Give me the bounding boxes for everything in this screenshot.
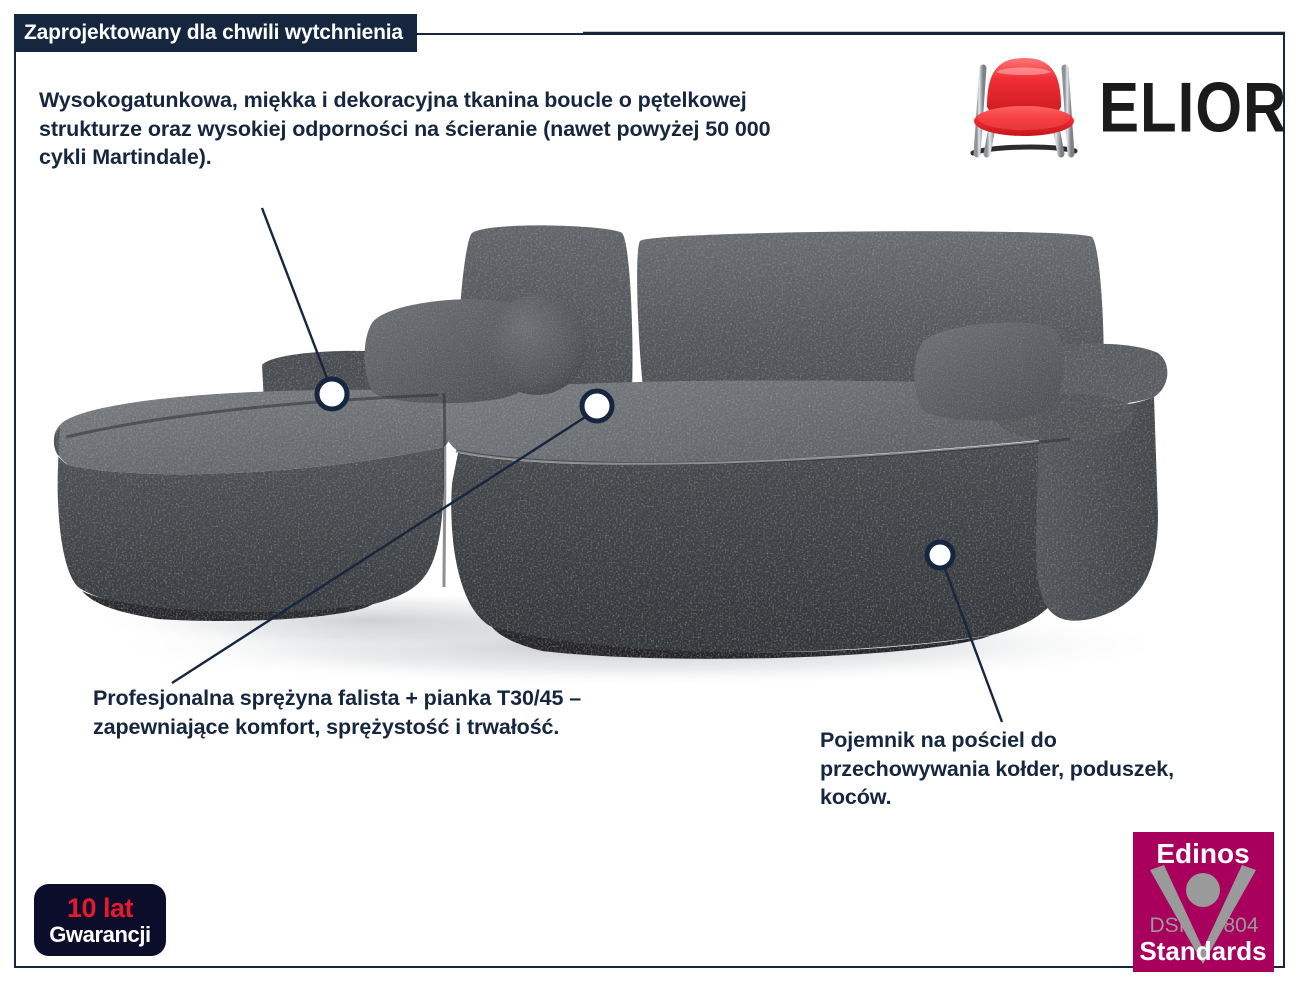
- main-seat-front: [451, 439, 1076, 652]
- brand-wordmark: ELIOR: [1099, 73, 1287, 144]
- pillow-round: [487, 295, 587, 395]
- edinos-code-left: DSI: [1149, 914, 1184, 937]
- callout-text-storage: Pojemnik na pościel do przechowywania ko…: [820, 726, 1220, 812]
- edinos-top-label: Edinos: [1156, 838, 1249, 869]
- red-chair-icon: [965, 50, 1083, 166]
- edinos-code-right: 804: [1223, 914, 1258, 937]
- edinos-dot: [1186, 873, 1220, 907]
- brand-logo: ELIOR: [965, 48, 1265, 168]
- page-title: Zaprojektowany dla chwili wytchnienia: [24, 21, 403, 45]
- infographic-page: Zaprojektowany dla chwili wytchnienia: [0, 0, 1300, 1000]
- header-banner: Zaprojektowany dla chwili wytchnienia: [14, 14, 417, 52]
- product-image-sofa: [40, 215, 1240, 695]
- edinos-bottom-label: Standards: [1139, 936, 1266, 966]
- warranty-word: Gwarancji: [49, 924, 151, 946]
- callout-text-fabric: Wysokogatunkowa, miękka i dekoracyjna tk…: [39, 86, 774, 172]
- pillow-rect-right: [914, 322, 1064, 420]
- warranty-years: 10 lat: [67, 895, 133, 922]
- callout-text-spring: Profesjonalna sprężyna falista + pianka …: [93, 684, 693, 741]
- warranty-badge: 10 lat Gwarancji: [34, 884, 166, 956]
- edinos-standards-badge: Edinos DSI 804 Standards: [1133, 832, 1274, 972]
